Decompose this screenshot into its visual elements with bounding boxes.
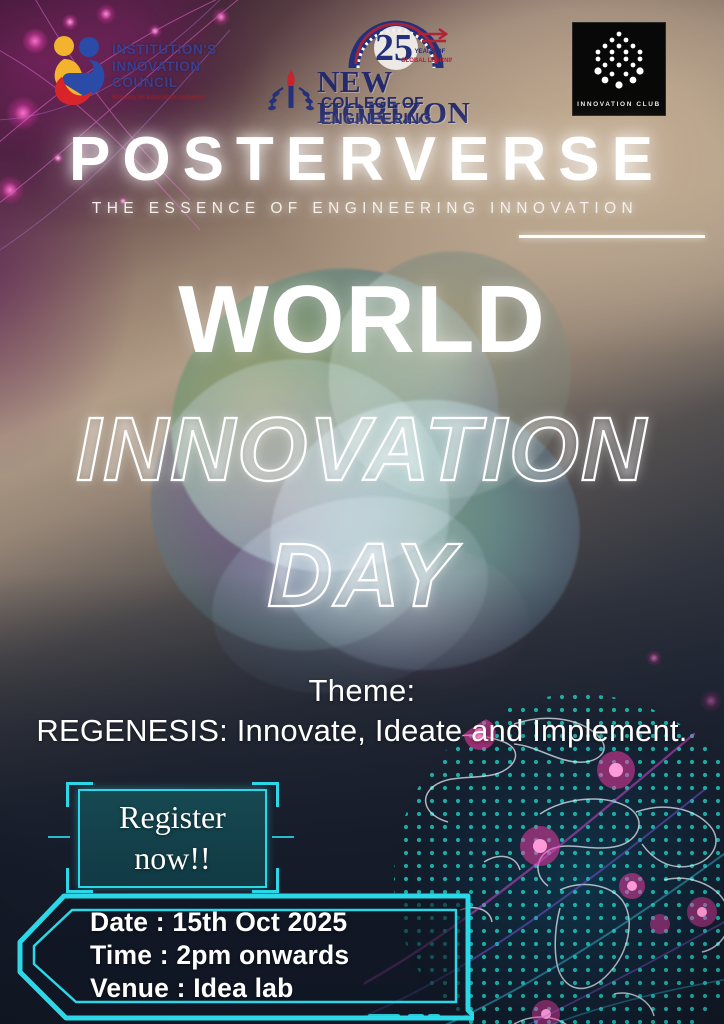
logo-bar: INSTITUTION'S INNOVATION COUNCIL Ministr… [0, 0, 724, 120]
register-tick-left [48, 836, 70, 838]
theme-text: REGENESIS: Innovate, Ideate and Implemen… [0, 713, 724, 749]
iic-logo-text: INSTITUTION'S INNOVATION COUNCIL [112, 42, 217, 92]
theme-label: Theme: [0, 673, 724, 709]
event-date: Date : 15th Oct 2025 [90, 906, 349, 939]
iic-logo-subtitle: Ministry of Education Initiative [112, 95, 227, 103]
nhce-torch-laurel-icon [263, 68, 319, 112]
nhce-25-years-badge: 25 YEARS OF GLOBAL LEARNING [340, 6, 452, 70]
innovation-club-label: INNOVATION CLUB [573, 101, 665, 108]
event-venue: Venue : Idea lab [90, 972, 349, 1005]
headline-line-world: WORLD [0, 272, 724, 368]
register-line2: now!! [80, 838, 265, 879]
innovation-club-diamond-icon [573, 27, 665, 95]
iic-line3: COUNCIL [112, 75, 217, 92]
headline-line-innovation: INNOVATION [0, 404, 724, 496]
svg-text:YEARS OF: YEARS OF [415, 49, 446, 55]
iic-logo-mark [42, 33, 112, 105]
poster-canvas: INSTITUTION'S INNOVATION COUNCIL Ministr… [0, 0, 724, 1024]
event-time: Time : 2pm onwards [90, 939, 349, 972]
register-now-button[interactable]: Register now!! [78, 789, 267, 888]
page-subtitle: THE ESSENCE OF ENGINEERING INNOVATION [0, 200, 724, 218]
headline-line-day: DAY [0, 530, 724, 622]
iic-line2: INNOVATION [112, 59, 217, 76]
event-details-panel: Date : 15th Oct 2025 Time : 2pm onwards … [6, 890, 474, 1022]
iic-line1: INSTITUTION'S [112, 42, 217, 59]
svg-text:GLOBAL LEARNING: GLOBAL LEARNING [401, 58, 452, 64]
nhce-logo-subtitle: COLLEGE OF ENGINEERING [321, 96, 505, 128]
iic-logo: INSTITUTION'S INNOVATION COUNCIL Ministr… [42, 31, 232, 109]
register-now-label: Register now!! [80, 797, 265, 879]
innovation-club-logo: INNOVATION CLUB [572, 22, 666, 116]
nhce-logo: 25 YEARS OF GLOBAL LEARNING [255, 6, 505, 116]
page-title: POSTERVERSE [0, 128, 724, 192]
register-tick-right [272, 836, 294, 838]
title-divider-rule [519, 235, 705, 238]
event-details-text: Date : 15th Oct 2025 Time : 2pm onwards … [90, 906, 349, 1005]
register-line1: Register [80, 797, 265, 838]
